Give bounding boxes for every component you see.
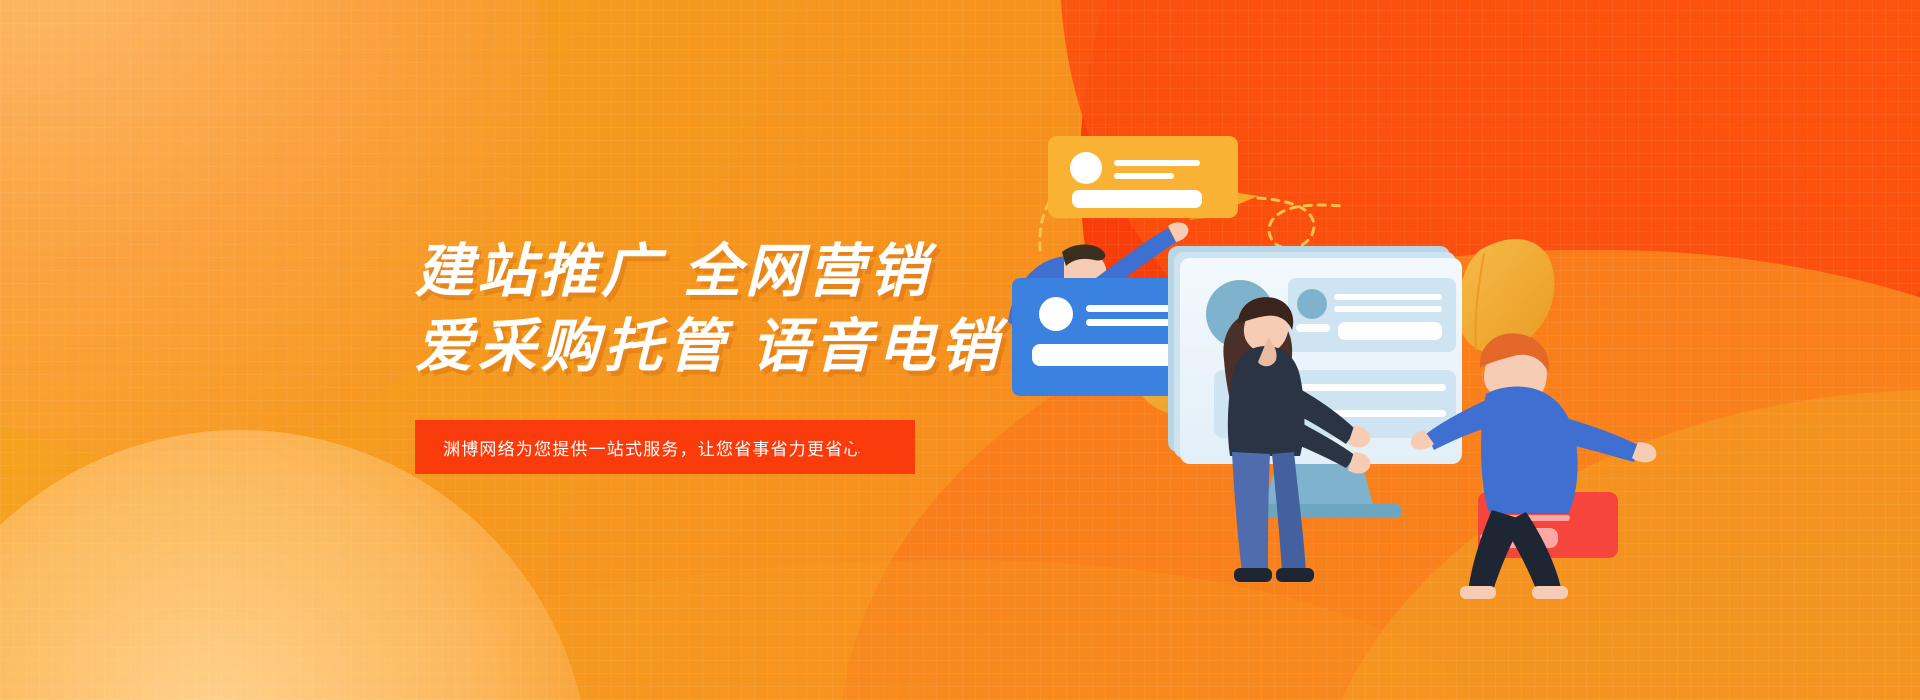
background-circle-top-left [0,0,545,460]
promo-banner: 建站推广 全网营销 爱采购托管 语音电销 渊博网络为您提供一站式服务，让您省事省… [0,0,1920,700]
subtitle-ribbon: 渊博网络为您提供一站式服务，让您省事省力更省心 [415,420,915,474]
team-marketing-illustration [1080,100,1780,600]
subtitle-ribbon-text: 渊博网络为您提供一站式服务，让您省事省力更省心 [415,435,862,460]
monitor-screen [1168,246,1462,518]
dashed-loop-trail [1258,198,1342,249]
yellow-card-top [1048,136,1238,218]
headline-line-1: 建站推广 全网营销 [415,238,1175,305]
headline-block: 建站推广 全网营销 爱采购托管 语音电销 [415,238,1175,381]
subtitle-ribbon-shape: 渊博网络为您提供一站式服务，让您省事省力更省心 [415,420,915,474]
headline-line-2: 爱采购托管 语音电销 [415,313,1175,380]
